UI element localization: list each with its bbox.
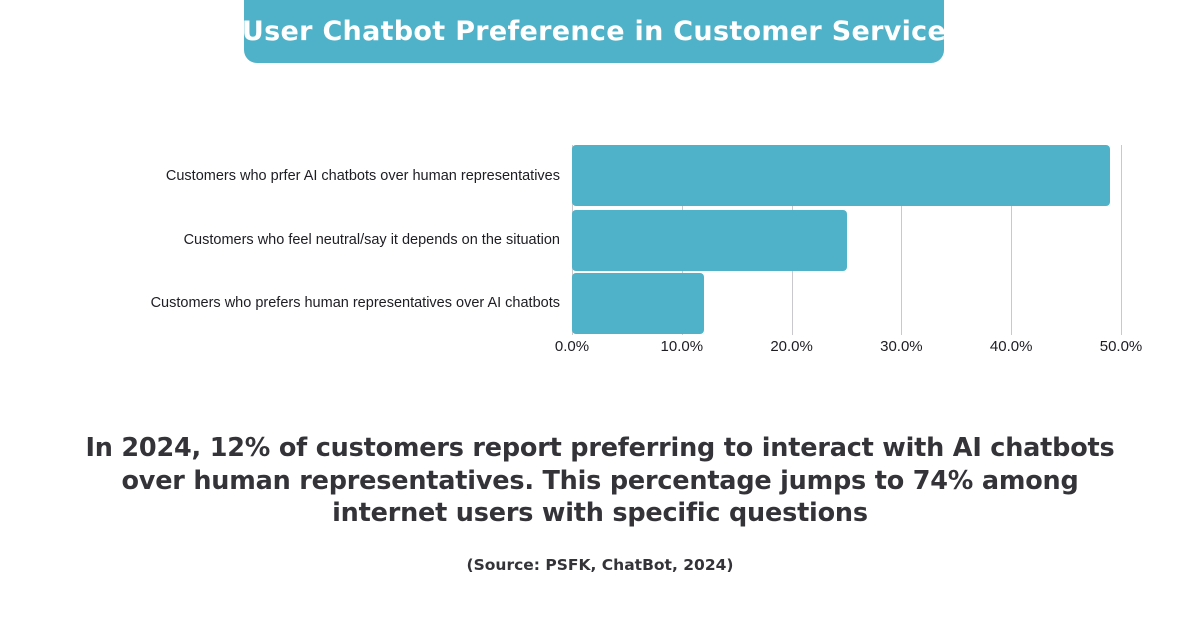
gridline-50 xyxy=(1121,145,1122,335)
chart-title-banner: User Chatbot Preference in Customer Serv… xyxy=(244,0,944,63)
category-axis-labels: Customers who prfer AI chatbots over hum… xyxy=(0,120,560,335)
tick-label-1: 10.0% xyxy=(661,338,704,355)
bar-2 xyxy=(572,273,704,334)
plot-area xyxy=(572,120,1132,335)
category-label-2: Customers who prefers human representati… xyxy=(0,295,560,311)
value-axis-labels: 0.0% 10.0% 20.0% 30.0% 40.0% 50.0% xyxy=(572,338,1192,362)
caption-text: In 2024, 12% of customers report preferr… xyxy=(0,432,1200,530)
category-label-1: Customers who feel neutral/say it depend… xyxy=(0,232,560,248)
bar-chart: Customers who prfer AI chatbots over hum… xyxy=(0,120,1200,360)
category-label-0: Customers who prfer AI chatbots over hum… xyxy=(0,168,560,184)
chart-title: User Chatbot Preference in Customer Serv… xyxy=(242,16,946,47)
tick-label-0: 0.0% xyxy=(555,338,589,355)
caption-block: In 2024, 12% of customers report preferr… xyxy=(0,432,1200,574)
tick-label-5: 50.0% xyxy=(1100,338,1143,355)
bar-1 xyxy=(572,210,847,271)
tick-label-4: 40.0% xyxy=(990,338,1033,355)
bar-0 xyxy=(572,145,1110,206)
tick-label-2: 20.0% xyxy=(770,338,813,355)
source-text: (Source: PSFK, ChatBot, 2024) xyxy=(0,556,1200,574)
tick-label-3: 30.0% xyxy=(880,338,923,355)
